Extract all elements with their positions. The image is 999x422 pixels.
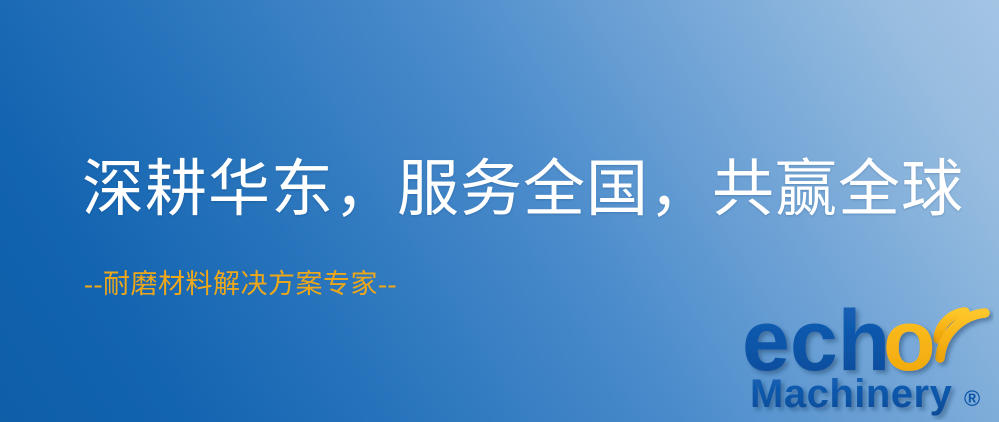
company-logo[interactable]: ech o Machinery ® ech Machinery <box>742 292 994 420</box>
signal-arcs-icon <box>938 312 985 358</box>
logo-registered-mark: ® <box>964 386 980 411</box>
headline-text: 深耕华东，服务全国，共赢全球 <box>82 156 964 224</box>
logo-tagline-label: Machinery <box>742 420 743 421</box>
echo-machinery-logo-icon: ech o Machinery ® <box>742 292 994 420</box>
subtitle-text: --耐磨材料解决方案专家-- <box>84 268 397 300</box>
logo-machinery-text: Machinery <box>750 372 953 416</box>
logo-brand-label: ech <box>742 420 743 421</box>
hero-banner: 深耕华东，服务全国，共赢全球 --耐磨材料解决方案专家-- <box>0 0 999 422</box>
